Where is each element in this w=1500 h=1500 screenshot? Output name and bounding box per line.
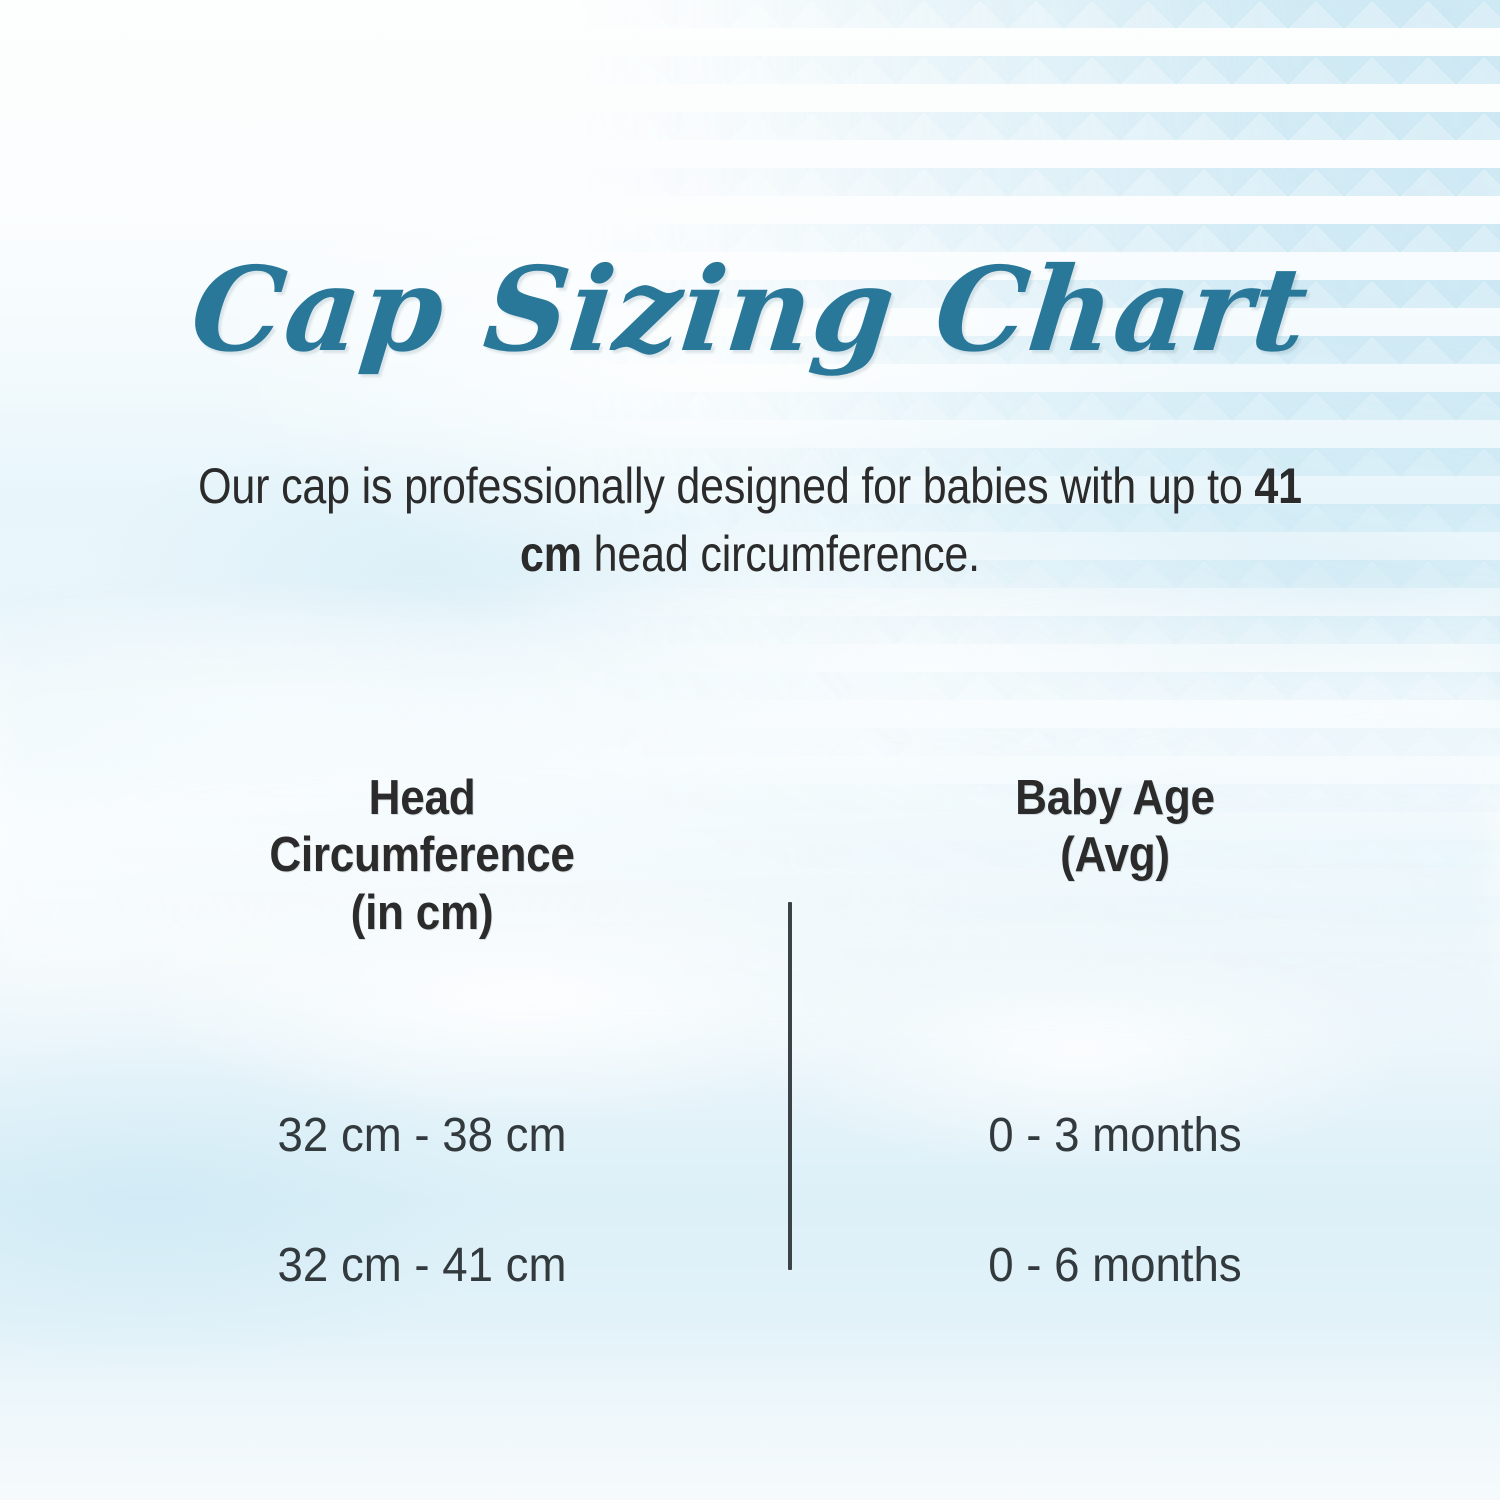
- content-layer: Cap Sizing Chart Our cap is professional…: [0, 0, 1500, 1500]
- page-subtitle: Our cap is professionally designed for b…: [182, 452, 1317, 588]
- table-cell-head-circumference-row2: 32 cm - 41 cm: [185, 1238, 660, 1293]
- sizing-table: Head Circumference (in cm) 32 cm - 38 cm…: [0, 770, 1500, 1330]
- column-divider: [788, 902, 792, 1270]
- column-header-head-circumference: Head Circumference (in cm): [197, 770, 647, 942]
- cap-sizing-chart-page: Cap Sizing Chart Our cap is professional…: [0, 0, 1500, 1500]
- column-head-circumference: Head Circumference (in cm) 32 cm - 38 cm…: [172, 770, 672, 942]
- column-header-line-1: Baby Age: [890, 770, 1340, 827]
- table-cell-baby-age-row1: 0 - 3 months: [878, 1108, 1353, 1163]
- column-header-line-1: Head: [197, 770, 647, 827]
- page-title: Cap Sizing Chart: [0, 252, 1500, 368]
- column-header-baby-age: Baby Age (Avg): [890, 770, 1340, 885]
- subtitle-text-after: head circumference.: [582, 526, 980, 582]
- column-header-line-3: (in cm): [197, 885, 647, 942]
- table-cell-head-circumference-row1: 32 cm - 38 cm: [185, 1108, 660, 1163]
- subtitle-text-before: Our cap is professionally designed for b…: [198, 458, 1254, 514]
- column-header-line-2: Circumference: [197, 827, 647, 884]
- column-header-line-2: (Avg): [890, 827, 1340, 884]
- column-baby-age: Baby Age (Avg) 0 - 3 months 0 - 6 months: [865, 770, 1365, 885]
- table-cell-baby-age-row2: 0 - 6 months: [878, 1238, 1353, 1293]
